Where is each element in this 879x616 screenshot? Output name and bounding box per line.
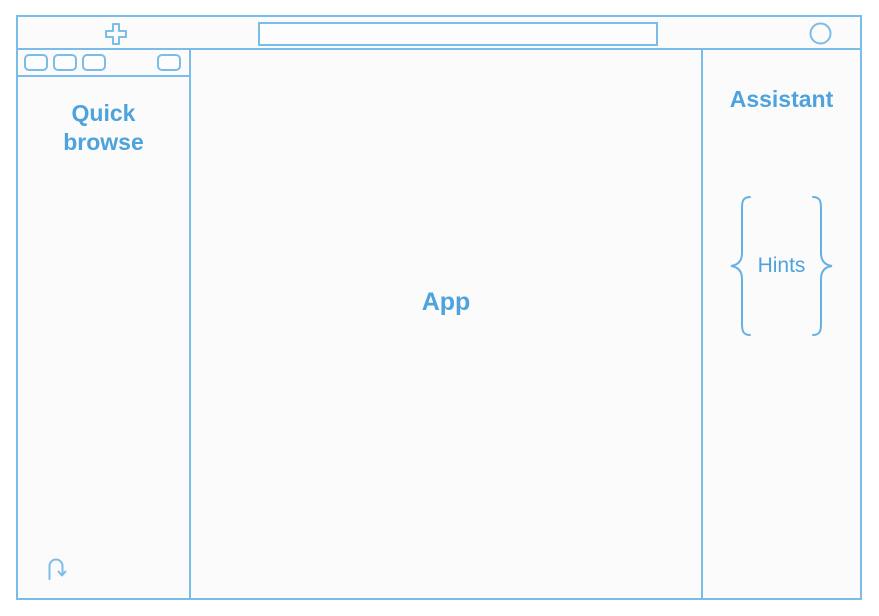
address-input[interactable]: [258, 22, 658, 46]
left-brace-icon: [728, 195, 754, 337]
app-content-area: App: [191, 50, 703, 598]
toolbar-chip-2[interactable]: [53, 54, 77, 71]
app-label: App: [422, 288, 471, 317]
quick-browse-sidebar: Quick browse: [18, 50, 191, 598]
quick-browse-title: Quick browse: [39, 99, 169, 157]
assistant-title: Assistant: [730, 86, 834, 113]
sidebar-content: Quick browse: [18, 77, 189, 598]
sidebar-toolbar: [18, 50, 189, 77]
toolbar-chip-1[interactable]: [24, 54, 48, 71]
toolbar-chip-right[interactable]: [157, 54, 181, 71]
header-bar: [18, 17, 860, 50]
hints-block: Hints: [703, 195, 860, 337]
assistant-panel: Assistant Hints: [703, 50, 860, 598]
app-window: Quick browse App Assistant: [16, 15, 862, 600]
window-body: Quick browse App Assistant: [18, 50, 860, 598]
user-avatar-circle-icon[interactable]: [809, 22, 832, 45]
hints-label: Hints: [754, 254, 810, 278]
right-brace-icon: [809, 195, 835, 337]
toolbar-chip-3[interactable]: [82, 54, 106, 71]
plus-icon[interactable]: [103, 21, 129, 47]
u-turn-back-icon[interactable]: [42, 554, 72, 584]
